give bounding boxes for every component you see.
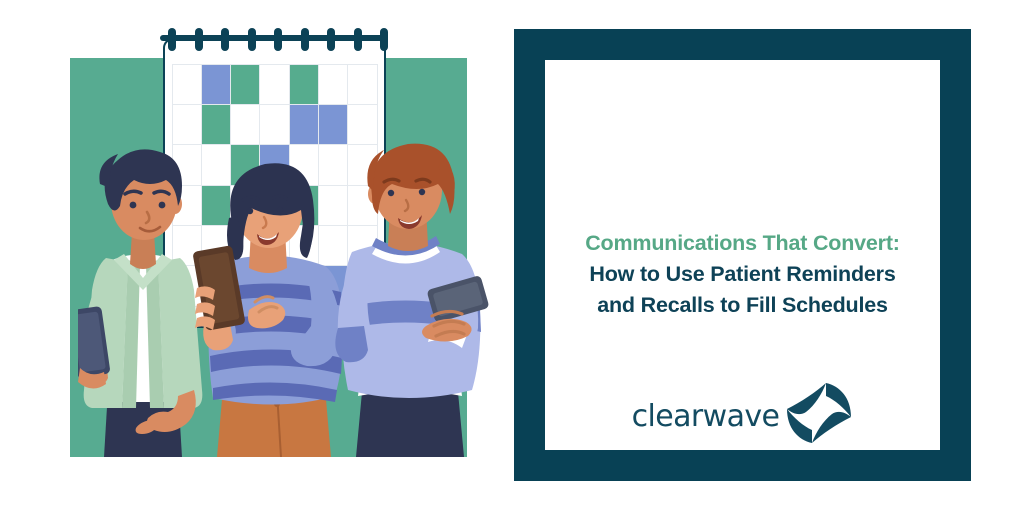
calendar-ring [380, 28, 388, 51]
calendar-ring [168, 28, 176, 51]
calendar-ring [195, 28, 203, 51]
calendar-ring [301, 28, 309, 51]
title-line-2: and Recalls to Fill Schedules [545, 290, 940, 321]
calendar-ring [354, 28, 362, 51]
calendar-cell [202, 65, 231, 105]
calendar-ring [274, 28, 282, 51]
calendar-cell [231, 105, 260, 145]
illustration-panel [0, 0, 500, 512]
calendar-cell [231, 65, 260, 105]
calendar-cell [290, 65, 319, 105]
calendar-cell [319, 65, 348, 105]
person-right [322, 140, 492, 457]
calendar-ring [248, 28, 256, 51]
calendar-cell [260, 65, 289, 105]
calendar-cell [290, 105, 319, 145]
calendar-cell [260, 105, 289, 145]
calendar-ring [327, 28, 335, 51]
title-block: Communications That Convert: How to Use … [545, 228, 940, 321]
slide-canvas: Communications That Convert: How to Use … [0, 0, 1024, 512]
calendar-cell [348, 65, 377, 105]
title-card-frame: Communications That Convert: How to Use … [514, 29, 971, 481]
wave-swoosh-icon [785, 383, 853, 445]
calendar-ring [221, 28, 229, 51]
clearwave-logo: clearwave [545, 387, 940, 445]
calendar-cell [173, 65, 202, 105]
title-line-1: How to Use Patient Reminders [545, 259, 940, 290]
title-accent-line: Communications That Convert: [545, 228, 940, 259]
title-card-inner: Communications That Convert: How to Use … [545, 60, 940, 450]
clearwave-wordmark: clearwave [632, 399, 780, 434]
